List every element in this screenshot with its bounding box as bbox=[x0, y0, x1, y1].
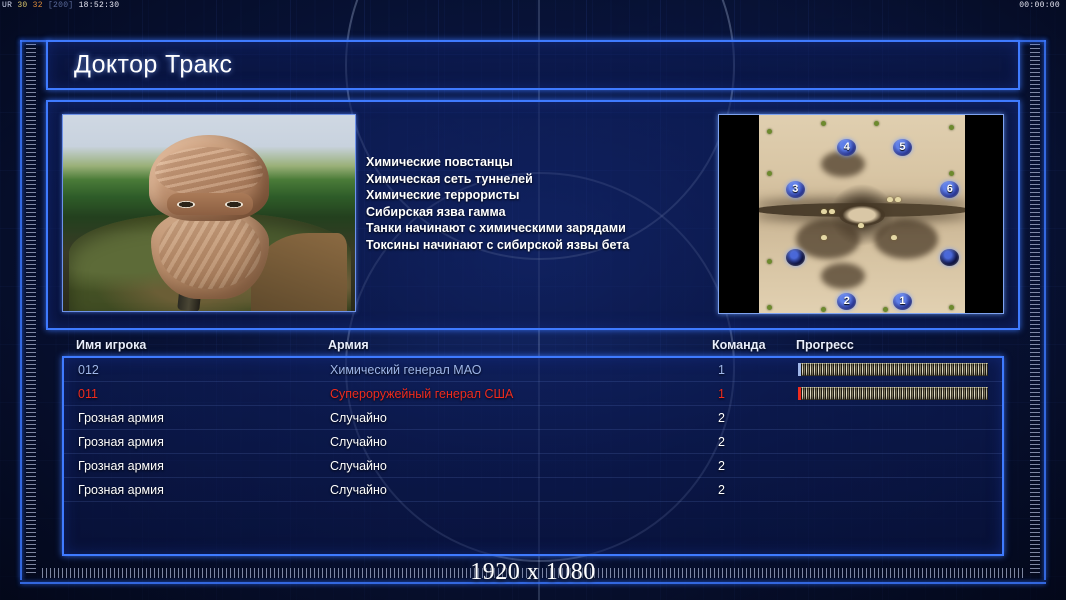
description-line: Химическая сеть туннелей bbox=[366, 171, 676, 188]
map-start-position-5: 5 bbox=[893, 139, 912, 156]
portrait-image bbox=[63, 115, 355, 311]
status-seg-3: [200] bbox=[48, 1, 74, 10]
map-rock bbox=[821, 235, 827, 240]
table-row[interactable]: Грозная армияСлучайно2 bbox=[64, 454, 1002, 478]
player-list-panel: 012Химический генерал МАО1011Супероружей… bbox=[62, 356, 1004, 556]
map-start-position-2: 2 bbox=[837, 293, 856, 310]
player-name: Грозная армия bbox=[78, 454, 164, 478]
clock-text: 00:00:00 bbox=[1019, 0, 1060, 12]
column-header-progress: Прогресс bbox=[796, 338, 854, 352]
column-header-team: Команда bbox=[712, 338, 766, 352]
table-row[interactable]: Грозная армияСлучайно2 bbox=[64, 406, 1002, 430]
map-start-position-empty bbox=[786, 249, 805, 266]
player-name: Грозная армия bbox=[78, 430, 164, 454]
player-name: 012 bbox=[78, 358, 99, 382]
progress-bar-cap bbox=[798, 387, 801, 400]
player-team: 2 bbox=[718, 406, 725, 430]
map-tree bbox=[821, 121, 826, 126]
player-team: 1 bbox=[718, 358, 725, 382]
status-seg-2: 32 bbox=[33, 1, 43, 10]
description-list: Химические повстанцы Химическая сеть тун… bbox=[366, 154, 676, 253]
portrait-eyes bbox=[167, 193, 253, 215]
table-row[interactable]: Грозная армияСлучайно2 bbox=[64, 430, 1002, 454]
player-army: Супероружейный генерал США bbox=[330, 382, 513, 406]
map-tree bbox=[883, 307, 888, 312]
progress-bar-cap bbox=[798, 363, 801, 376]
player-team: 2 bbox=[718, 454, 725, 478]
top-status-bar: UR 30 32 [200] 18:52:30 00:00:00 bbox=[0, 0, 1066, 12]
player-list-header: Имя игрока Армия Команда Прогресс bbox=[62, 338, 1004, 356]
map-tree bbox=[767, 171, 772, 176]
player-name: Грозная армия bbox=[78, 478, 164, 502]
map-rock bbox=[891, 235, 897, 240]
map-rock bbox=[821, 209, 827, 214]
resolution-label: 1920 x 1080 bbox=[0, 559, 1066, 586]
portrait-eye-right bbox=[225, 201, 243, 208]
player-team: 1 bbox=[718, 382, 725, 406]
player-army: Случайно bbox=[330, 454, 387, 478]
ruler-right bbox=[1030, 44, 1040, 574]
title-panel: Доктор Тракс bbox=[46, 40, 1020, 90]
progress-bar-fill bbox=[798, 387, 988, 400]
map-rock bbox=[829, 209, 835, 214]
description-line: Токсины начинают с сибирской язвы бета bbox=[366, 237, 676, 254]
frame-line-top-right bbox=[1016, 40, 1046, 42]
map-tree bbox=[874, 121, 879, 126]
general-portrait bbox=[62, 114, 356, 312]
column-header-army: Армия bbox=[328, 338, 369, 352]
map-start-position-empty bbox=[940, 249, 959, 266]
portrait-eye-left bbox=[177, 201, 195, 208]
description-line: Химические террористы bbox=[366, 187, 676, 204]
map-tree bbox=[949, 171, 954, 176]
status-seg-0: UR bbox=[2, 1, 12, 10]
map-start-position-3: 3 bbox=[786, 181, 805, 198]
player-army: Случайно bbox=[330, 406, 387, 430]
map-tree bbox=[949, 125, 954, 130]
player-army: Случайно bbox=[330, 430, 387, 454]
map-rock bbox=[858, 223, 864, 228]
player-team: 2 bbox=[718, 430, 725, 454]
debug-status-text: UR 30 32 [200] 18:52:30 bbox=[2, 0, 119, 12]
player-army: Химический генерал МАО bbox=[330, 358, 481, 382]
table-row[interactable]: Грозная армияСлучайно2 bbox=[64, 478, 1002, 502]
map-preview[interactable]: 453621 bbox=[718, 114, 1004, 314]
progress-bar bbox=[798, 387, 988, 400]
player-rows: 012Химический генерал МАО1011Супероружей… bbox=[64, 358, 1002, 502]
progress-bar bbox=[798, 363, 988, 376]
map-tree bbox=[821, 307, 826, 312]
column-header-name: Имя игрока bbox=[76, 338, 146, 352]
map-rock bbox=[895, 197, 901, 202]
map-tree bbox=[767, 129, 772, 134]
description-line: Сибирская язва гамма bbox=[366, 204, 676, 221]
map-terrain-blob bbox=[821, 263, 865, 289]
map-tree bbox=[949, 305, 954, 310]
map-terrain-blob bbox=[796, 219, 860, 259]
map-rock bbox=[887, 197, 893, 202]
frame-line-left bbox=[20, 40, 22, 580]
ruler-left bbox=[26, 44, 36, 574]
map-tree bbox=[767, 259, 772, 264]
player-name: 011 bbox=[78, 382, 98, 406]
info-panel: Химические повстанцы Химическая сеть тун… bbox=[46, 100, 1020, 330]
status-seg-4: 18:52:30 bbox=[79, 1, 120, 10]
map-terrain-blob bbox=[874, 219, 938, 259]
status-seg-1: 30 bbox=[17, 1, 27, 10]
map-start-position-6: 6 bbox=[940, 181, 959, 198]
table-row[interactable]: 011Супероружейный генерал США1 bbox=[64, 382, 1002, 406]
description-line: Танки начинают с химическими зарядами bbox=[366, 220, 676, 237]
description-line: Химические повстанцы bbox=[366, 154, 676, 171]
page-title: Доктор Тракс bbox=[74, 51, 232, 80]
map-tree bbox=[767, 305, 772, 310]
map-image: 453621 bbox=[759, 115, 965, 314]
player-team: 2 bbox=[718, 478, 725, 502]
player-name: Грозная армия bbox=[78, 406, 164, 430]
progress-bar-fill bbox=[798, 363, 988, 376]
table-row[interactable]: 012Химический генерал МАО1 bbox=[64, 358, 1002, 382]
map-start-position-1: 1 bbox=[893, 293, 912, 310]
frame-line-right bbox=[1044, 40, 1046, 580]
player-army: Случайно bbox=[330, 478, 387, 502]
